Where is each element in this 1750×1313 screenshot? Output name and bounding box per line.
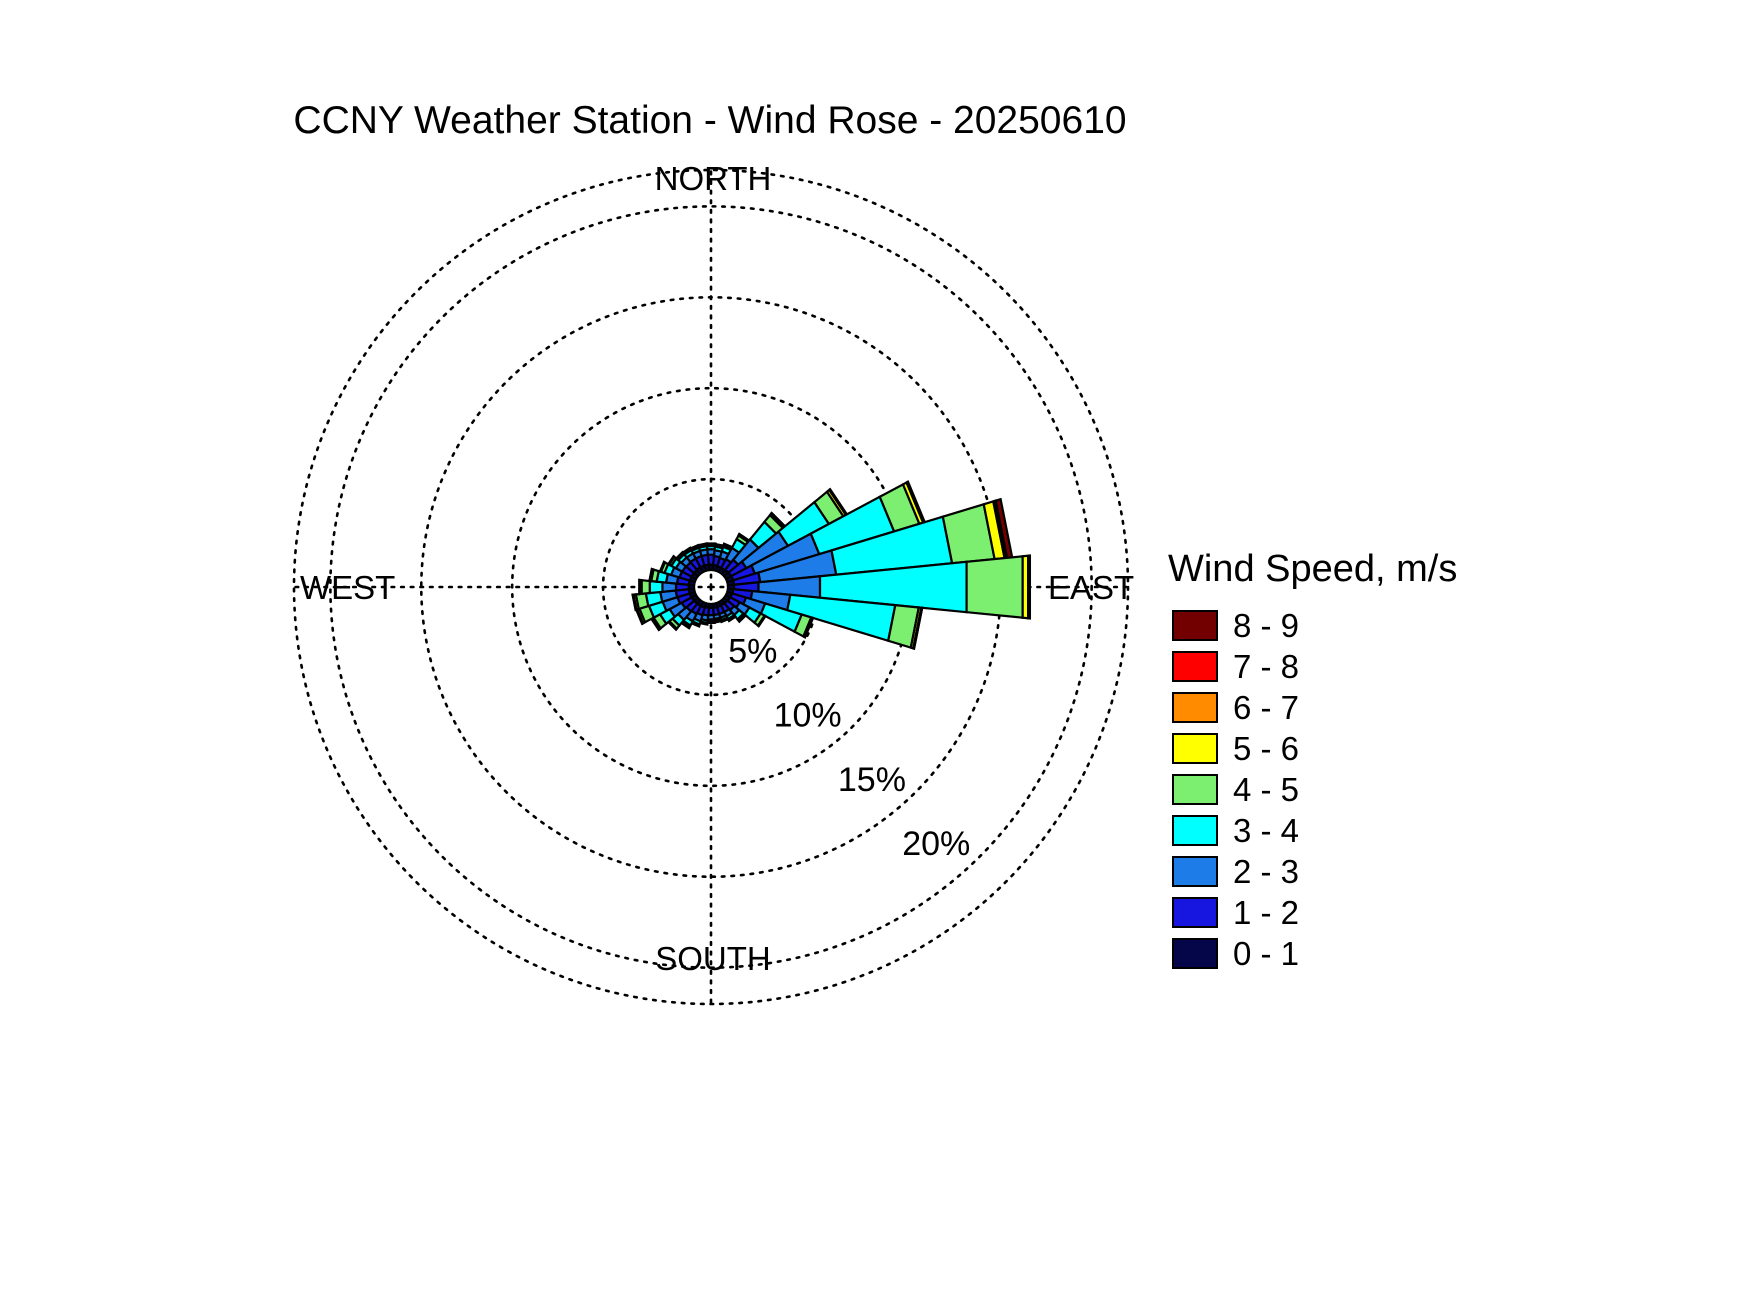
legend-item: 0 - 1 xyxy=(1168,933,1588,974)
legend-label: 7 - 8 xyxy=(1233,648,1299,686)
legend: Wind Speed, m/s 8 - 97 - 86 - 75 - 64 - … xyxy=(1168,548,1588,974)
legend-swatch xyxy=(1172,856,1218,887)
legend-item: 6 - 7 xyxy=(1168,687,1588,728)
legend-item: 1 - 2 xyxy=(1168,892,1588,933)
legend-rows: 8 - 97 - 86 - 75 - 64 - 53 - 42 - 31 - 2… xyxy=(1168,605,1588,974)
compass-label-south: SOUTH xyxy=(655,940,771,978)
compass-label-west: WEST xyxy=(300,569,395,607)
petal-layer xyxy=(633,482,1030,649)
petal-segment xyxy=(967,556,1023,617)
legend-label: 1 - 2 xyxy=(1233,894,1299,932)
legend-item: 8 - 9 xyxy=(1168,605,1588,646)
legend-swatch xyxy=(1172,897,1218,928)
legend-label: 8 - 9 xyxy=(1233,607,1299,645)
legend-item: 2 - 3 xyxy=(1168,851,1588,892)
petal-segment xyxy=(642,580,650,594)
compass-label-north: NORTH xyxy=(655,160,772,198)
petal-segment xyxy=(715,544,723,546)
legend-swatch xyxy=(1172,938,1218,969)
legend-item: 3 - 4 xyxy=(1168,810,1588,851)
legend-item: 5 - 6 xyxy=(1168,728,1588,769)
legend-title: Wind Speed, m/s xyxy=(1168,548,1588,591)
radial-tick-label: 5% xyxy=(728,632,777,670)
legend-swatch xyxy=(1172,733,1218,764)
legend-swatch xyxy=(1172,651,1218,682)
legend-label: 2 - 3 xyxy=(1233,853,1299,891)
legend-item: 7 - 8 xyxy=(1168,646,1588,687)
legend-swatch xyxy=(1172,692,1218,723)
legend-label: 3 - 4 xyxy=(1233,812,1299,850)
legend-label: 4 - 5 xyxy=(1233,771,1299,809)
legend-item: 4 - 5 xyxy=(1168,769,1588,810)
legend-swatch xyxy=(1172,774,1218,805)
compass-label-east: EAST xyxy=(1048,569,1134,607)
legend-label: 6 - 7 xyxy=(1233,689,1299,727)
radial-tick-label: 20% xyxy=(902,825,970,863)
radial-tick-label: 15% xyxy=(838,761,906,799)
legend-swatch xyxy=(1172,610,1218,641)
legend-label: 0 - 1 xyxy=(1233,935,1299,973)
legend-swatch xyxy=(1172,815,1218,846)
legend-label: 5 - 6 xyxy=(1233,730,1299,768)
radial-tick-labels: 5%10%15%20% xyxy=(728,632,970,863)
radial-tick-label: 10% xyxy=(774,697,842,735)
